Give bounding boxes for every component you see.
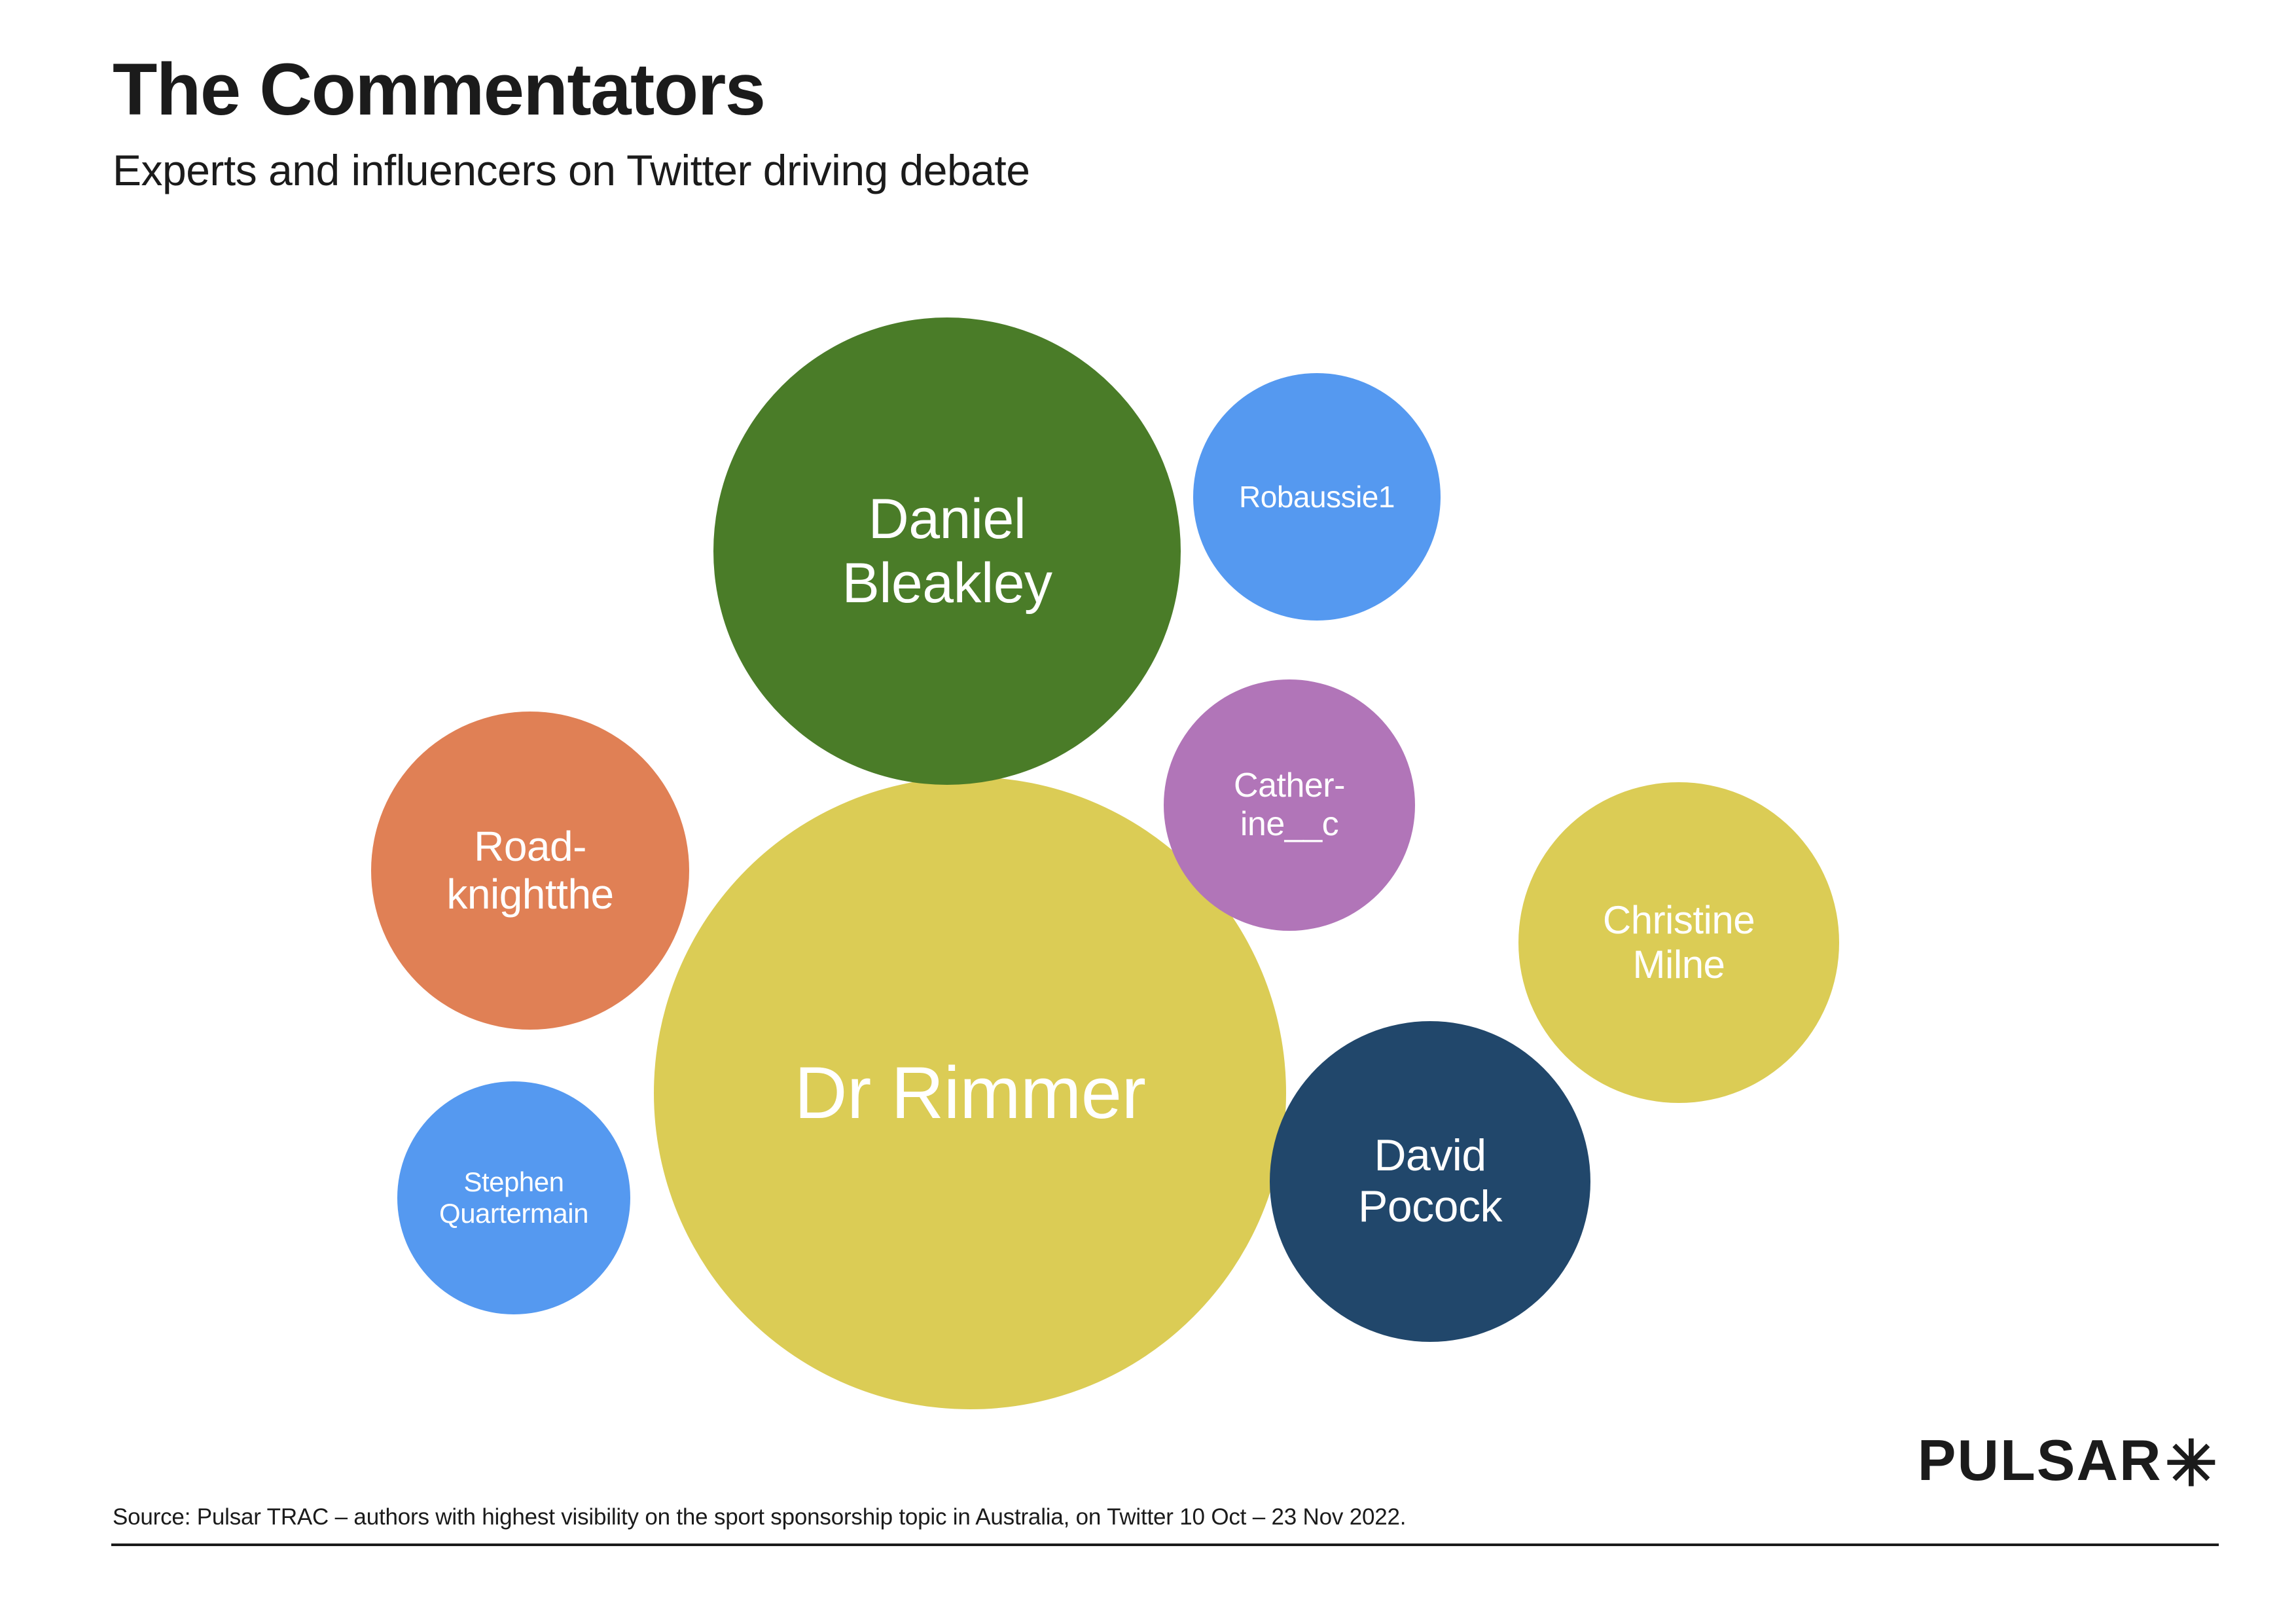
bubble-label: Cather- ine__c (1230, 767, 1349, 844)
footer: PULSAR ✳ Source: Pulsar TRAC – authors w… (0, 1427, 2296, 1624)
bubble-label: Christine Milne (1599, 898, 1759, 988)
footer-divider (111, 1543, 2219, 1546)
bubble[interactable]: Cather- ine__c (1164, 679, 1415, 931)
bubble[interactable]: Road- knightthe (371, 712, 689, 1030)
bubble-label: Road- knightthe (442, 823, 617, 918)
bubble[interactable]: Stephen Quartermain (397, 1081, 630, 1314)
pulsar-logo: PULSAR ✳ (1918, 1427, 2219, 1494)
bubble[interactable]: Daniel Bleakley (713, 317, 1181, 785)
bubble[interactable]: David Pocock (1270, 1021, 1590, 1342)
bubble-label: Robaussie1 (1235, 480, 1399, 514)
bubble-label: Stephen Quartermain (435, 1166, 592, 1229)
brand-wordmark: PULSAR (1918, 1427, 2162, 1494)
bubble[interactable]: Robaussie1 (1193, 373, 1441, 621)
source-note: Source: Pulsar TRAC – authors with highe… (113, 1504, 1406, 1530)
bubble[interactable]: Christine Milne (1518, 782, 1839, 1103)
asterisk-icon: ✳ (2165, 1439, 2219, 1490)
bubble-label: Dr Rimmer (791, 1051, 1150, 1135)
bubble-label: David Pocock (1354, 1130, 1506, 1232)
infographic-page: The Commentators Experts and influencers… (0, 0, 2296, 1624)
bubble-label: Daniel Bleakley (838, 487, 1056, 615)
bubble-chart: Dr RimmerDaniel BleakleyChristine MilneD… (0, 0, 2296, 1440)
